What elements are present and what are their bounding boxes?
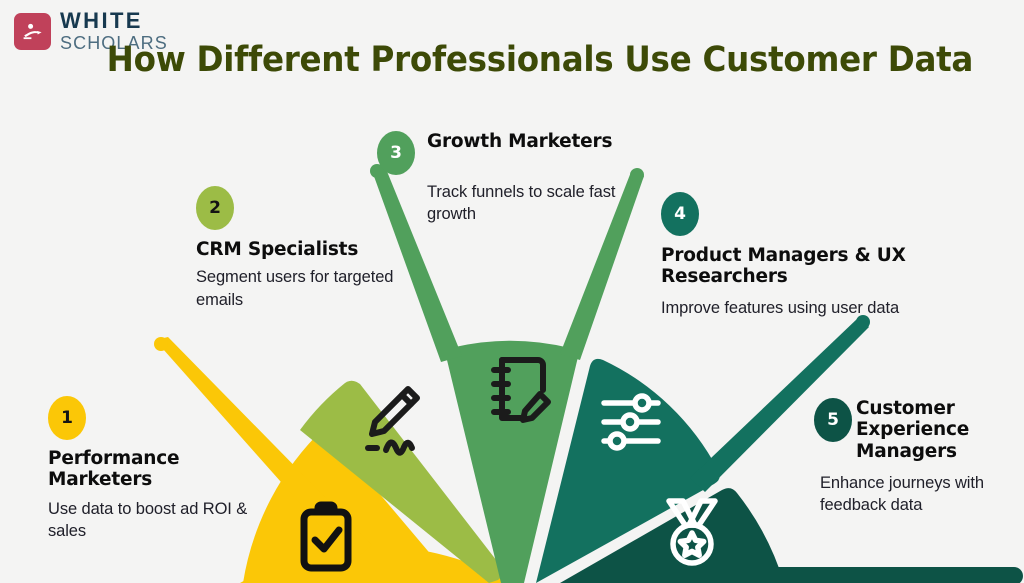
badge-3: 3	[377, 131, 415, 175]
callout-head-5: 5 Customer Experience Managers	[814, 398, 1014, 462]
callout-head-2: 2 CRM Specialists	[196, 186, 396, 260]
badge-1: 1	[48, 396, 86, 440]
callout-growth-marketers[interactable]: 3 Growth Marketers Track funnels to scal…	[377, 131, 637, 225]
callout-title-4: Product Managers & UX Researchers	[661, 245, 906, 288]
badge-4: 4	[661, 192, 699, 236]
callout-head-1: 1 Performance Marketers	[48, 396, 263, 491]
callout-title-3: Growth Marketers	[427, 131, 612, 152]
badge-2: 2	[196, 186, 234, 230]
callout-customer-experience-managers[interactable]: 5 Customer Experience Managers Enhance j…	[814, 398, 1014, 517]
wedge-shape-5b	[778, 567, 1023, 583]
callout-head-4: 4 Product Managers & UX Researchers	[661, 192, 906, 288]
callout-title-5: Customer Experience Managers	[856, 398, 1014, 462]
callout-title-2: CRM Specialists	[196, 239, 396, 260]
callout-performance-marketers[interactable]: 1 Performance Marketers Use data to boos…	[48, 396, 263, 542]
callout-title-1: Performance Marketers	[48, 448, 263, 491]
infographic-canvas: WHITE SCHOLARS How Different Professiona…	[0, 0, 1024, 583]
callout-desc-4: Improve features using user data	[661, 297, 906, 319]
callout-desc-2: Segment users for targeted emails	[196, 266, 396, 310]
callout-crm-specialists[interactable]: 2 CRM Specialists Segment users for targ…	[196, 186, 396, 311]
callout-desc-5: Enhance journeys with feedback data	[820, 472, 1014, 516]
sliders-settings-icon	[604, 396, 658, 448]
callout-desc-1: Use data to boost ad ROI & sales	[48, 498, 263, 542]
badge-5: 5	[814, 398, 852, 442]
callout-head-3: 3 Growth Marketers	[377, 131, 637, 175]
wedge-arm-cap-1	[154, 337, 168, 351]
callout-desc-3: Track funnels to scale fast growth	[427, 181, 637, 225]
callout-product-managers[interactable]: 4 Product Managers & UX Researchers Impr…	[661, 192, 906, 319]
